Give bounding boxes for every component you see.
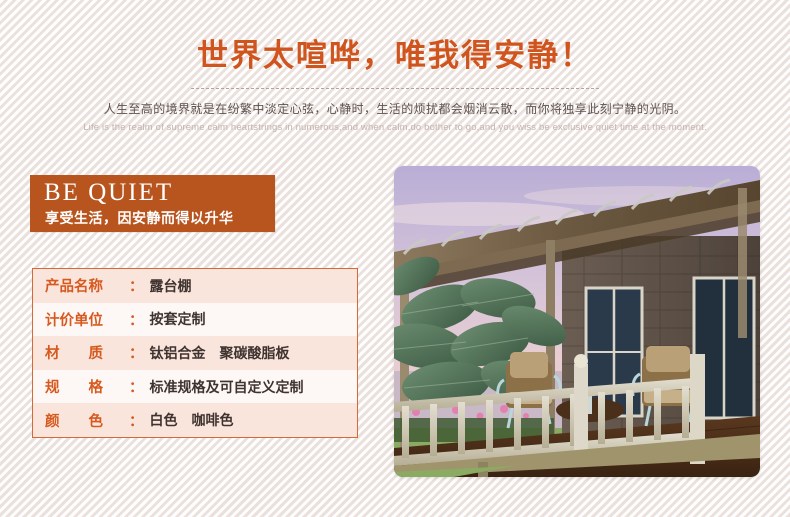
subtitle-chinese: 人生至高的境界就是在纷繁中淡定心弦，心静时，生活的烦扰都会烟消云散，而你将独享此… xyxy=(0,100,790,117)
title-divider xyxy=(191,88,599,89)
spec-label: 材 质 xyxy=(45,342,129,363)
spec-value: 白色 咖啡色 xyxy=(150,410,234,430)
page-title: 世界太喧哗，唯我得安静！ xyxy=(0,30,790,75)
spec-value: 钛铝合金 聚碳酸脂板 xyxy=(150,343,290,363)
banner-english-text: BE QUIET xyxy=(44,179,173,207)
spec-value: 露台棚 xyxy=(150,276,192,296)
spec-label: 规 格 xyxy=(45,376,129,397)
spec-value: 标准规格及可自定义定制 xyxy=(150,377,304,397)
spec-colon: ： xyxy=(129,275,144,296)
spec-colon: ： xyxy=(129,376,144,397)
spec-colon: ： xyxy=(129,309,144,330)
spec-label: 产品名称 xyxy=(45,275,129,296)
spec-colon: ： xyxy=(129,342,144,363)
table-row: 材 质：钛铝合金 聚碳酸脂板 xyxy=(33,336,357,370)
table-row: 计价单位：按套定制 xyxy=(33,303,357,337)
spec-label: 计价单位 xyxy=(45,309,129,330)
page-header: 世界太喧哗，唯我得安静！ 人生至高的境界就是在纷繁中淡定心弦，心静时，生活的烦扰… xyxy=(0,0,790,133)
be-quiet-banner: BE QUIET 享受生活，因安静而得以升华 xyxy=(30,175,275,232)
subtitle-english: Life is the realm of supreme calm hearts… xyxy=(0,122,790,133)
product-photo-illustration xyxy=(394,166,760,477)
spec-value: 按套定制 xyxy=(150,309,206,329)
product-photo xyxy=(394,166,760,477)
table-row: 规 格：标准规格及可自定义定制 xyxy=(33,370,357,404)
spec-label: 颜 色 xyxy=(45,410,129,431)
table-row: 颜 色：白色 咖啡色 xyxy=(33,403,357,437)
left-column: BE QUIET 享受生活，因安静而得以升华 xyxy=(30,175,360,232)
banner-chinese-text: 享受生活，因安静而得以升华 xyxy=(45,208,234,228)
table-row: 产品名称：露台棚 xyxy=(33,269,357,303)
spec-colon: ： xyxy=(129,410,144,431)
product-spec-table: 产品名称：露台棚 计价单位：按套定制 材 质：钛铝合金 聚碳酸脂板 规 格：标准… xyxy=(32,268,358,438)
